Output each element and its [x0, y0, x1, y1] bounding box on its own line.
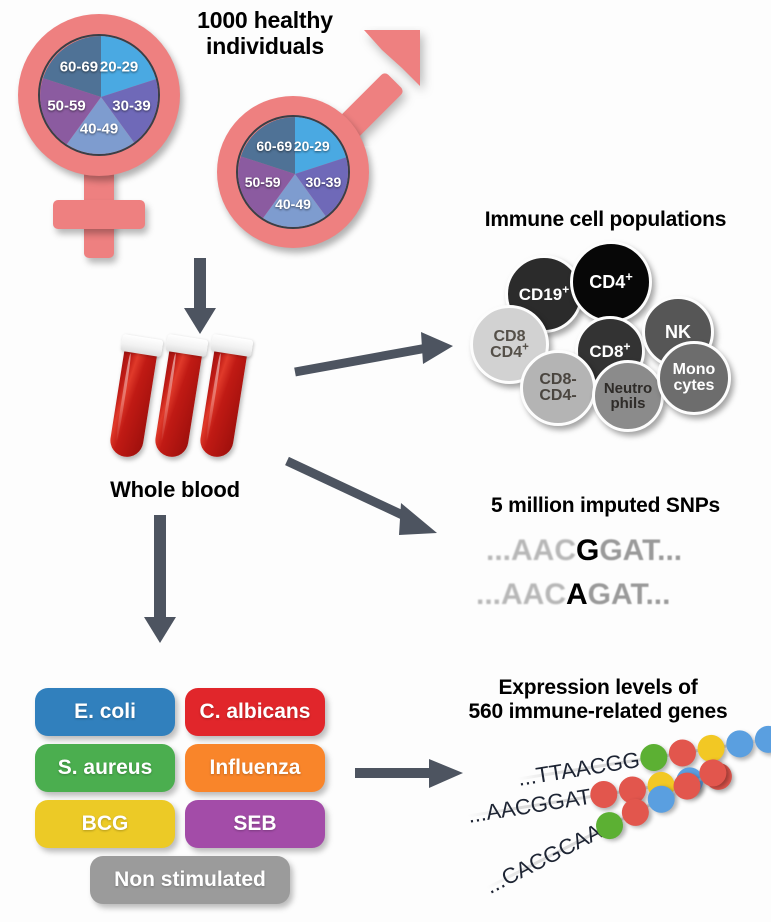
immune-cell-cd4: CD4+	[570, 241, 652, 323]
immune-cell-neutrophils: Neutrophils	[592, 360, 664, 432]
superscript: +	[522, 341, 529, 353]
gene-bead	[667, 738, 698, 769]
immune-cell-label: CD8CD4+	[490, 329, 529, 361]
immune-cell-label: CD4+	[589, 273, 633, 291]
immune-cell-label: CD8+	[589, 343, 630, 360]
expression-strands-group: ...TTAACGG...AACGGAT...CACGCAA	[0, 0, 771, 922]
superscript: +	[562, 282, 569, 296]
gene-bead	[638, 742, 669, 773]
superscript: +	[623, 339, 630, 353]
gene-bead	[753, 724, 771, 755]
immune-cell-label: CD19+	[519, 286, 570, 303]
immune-cell-label: NK	[665, 323, 691, 341]
immune-cell-label: Monocytes	[673, 362, 716, 394]
strand-sequence-text: ...AACGGAT	[466, 784, 593, 829]
immune-cell-monocytes: Monocytes	[657, 341, 731, 415]
strand-sequence-text: ...CACGCAA	[481, 819, 606, 900]
immune-cell-label: Neutrophils	[604, 381, 652, 411]
superscript: +	[625, 269, 633, 284]
gene-bead	[724, 728, 755, 759]
immune-cell-cd8neg-cd4neg: CD8-CD4-	[520, 350, 596, 426]
immune-cell-label: CD8-CD4-	[539, 372, 576, 404]
